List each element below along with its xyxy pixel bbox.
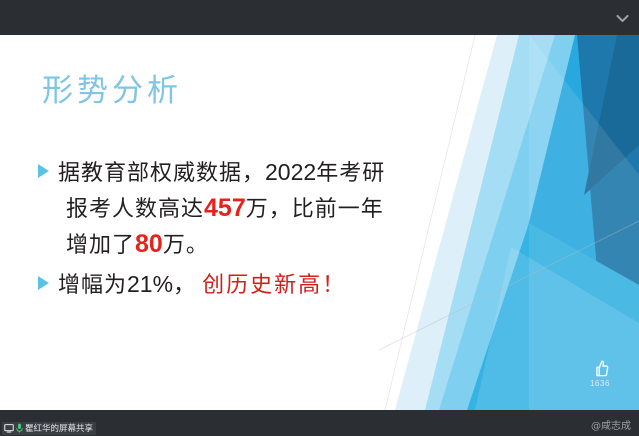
chevron-down-icon[interactable] (614, 11, 630, 25)
bullet-1-line-2-seg-3: 万，比前一年 (246, 197, 384, 222)
bullet-2-line-1-emphasis: 创历史新高！ (196, 273, 346, 298)
app-window: 形势分析 据教育部权威数据，2022年考研 报考人数高达457万，比前一年 增加… (0, 0, 639, 436)
bullet-1-line-3-seg-3: 万。 (163, 233, 209, 258)
bullet-1-line-1-seg-3: 年考研 (316, 161, 385, 186)
watermark-label: @咸志成 (591, 417, 631, 432)
page-title: 形势分析 (42, 65, 182, 110)
bullet-2-line-1-seg-1: 增幅为 (58, 273, 127, 298)
bottom-bar: 瞿红华的屏幕共享 @咸志成 (0, 410, 639, 436)
screen-share-status[interactable]: 瞿红华的屏幕共享 (2, 422, 96, 435)
triangle-bullet-icon (38, 164, 49, 178)
slide-body: 据教育部权威数据，2022年考研 报考人数高达457万，比前一年 增加了80万。… (38, 155, 508, 307)
bullet-item: 增幅为21%，创历史新高！ (38, 267, 508, 303)
bullet-text: 据教育部权威数据，2022年考研 报考人数高达457万，比前一年 增加了80万。 (58, 155, 508, 263)
bullet-1-line-1-year: 2022 (265, 159, 316, 185)
thumbs-up-icon[interactable] (580, 359, 620, 378)
share-status-label: 瞿红华的屏幕共享 (25, 423, 93, 435)
bullet-1-line-2-seg-1: 报考人数高达 (66, 197, 204, 222)
bullet-1-line-1-seg-1: 据教育部权威数据， (58, 161, 265, 186)
bullet-1-line-3-highlight: 80 (135, 230, 163, 258)
bullet-2-line-1-seg-3: ， (173, 273, 196, 298)
triangle-bullet-icon (38, 276, 49, 290)
bullet-2-line-1-percent: 21% (127, 271, 173, 297)
bullet-text: 增幅为21%，创历史新高！ (58, 267, 508, 303)
like-count: 1636 (580, 379, 620, 388)
bullet-1-line-3-seg-1: 增加了 (66, 233, 135, 258)
screen-share-icon (4, 420, 14, 436)
presentation-slide[interactable]: 形势分析 据教育部权威数据，2022年考研 报考人数高达457万，比前一年 增加… (0, 35, 639, 410)
microphone-icon (16, 420, 23, 436)
bullet-item: 据教育部权威数据，2022年考研 报考人数高达457万，比前一年 增加了80万。 (38, 155, 508, 263)
like-widget[interactable]: 1636 (580, 359, 620, 388)
top-bar (0, 0, 639, 35)
bullet-1-line-2-highlight: 457 (204, 194, 246, 222)
